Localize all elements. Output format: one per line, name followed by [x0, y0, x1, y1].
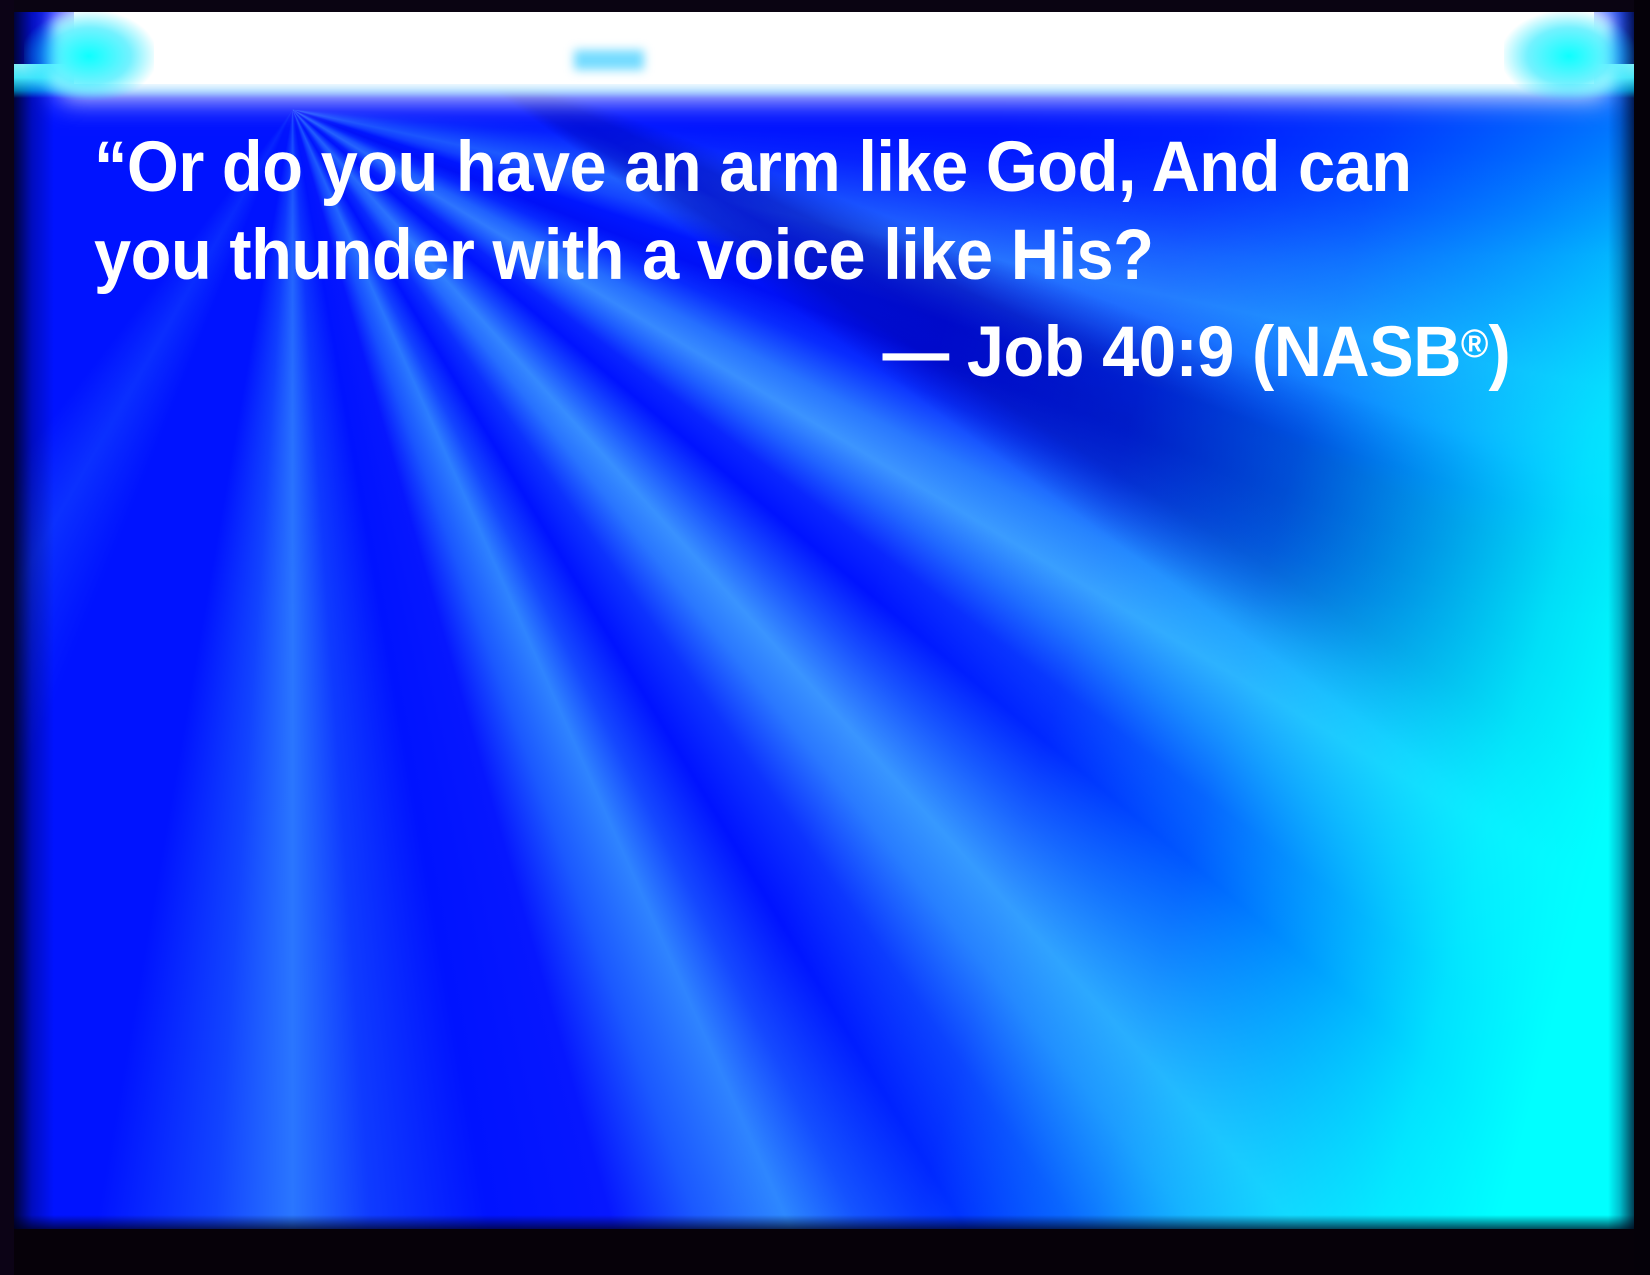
- verse-slide: “Or do you have an arm like God, And can…: [0, 0, 1650, 1275]
- top-highlight-band: [14, 12, 1634, 100]
- band-cyan-cap-right: [1504, 12, 1634, 100]
- slide-background: “Or do you have an arm like God, And can…: [14, 12, 1634, 1229]
- frame-border-left: [0, 0, 14, 1275]
- registered-trademark-icon: ®: [1461, 322, 1489, 366]
- frame-border-top: [0, 0, 1650, 12]
- band-white-bloom: [54, 20, 1609, 84]
- frame-border-right: [1634, 0, 1650, 1275]
- background-bottom-shadow: [14, 1215, 1634, 1229]
- verse-text-block: “Or do you have an arm like God, And can…: [94, 124, 1514, 397]
- verse-reference: — Job 40:9 (NASB®): [179, 300, 1514, 397]
- verse-line-2: you thunder with a voice like His?: [94, 212, 1429, 300]
- verse-reference-suffix: ): [1488, 313, 1510, 392]
- frame-border-bottom: [0, 1229, 1650, 1275]
- band-cyan-cap-left: [24, 12, 154, 100]
- band-notch: [574, 50, 644, 70]
- verse-line-1: “Or do you have an arm like God, And can: [94, 124, 1429, 212]
- background-left-shadow: [14, 12, 54, 1229]
- background-right-shadow: [1608, 12, 1634, 1229]
- verse-reference-prefix: — Job 40:9 (NASB: [883, 313, 1461, 392]
